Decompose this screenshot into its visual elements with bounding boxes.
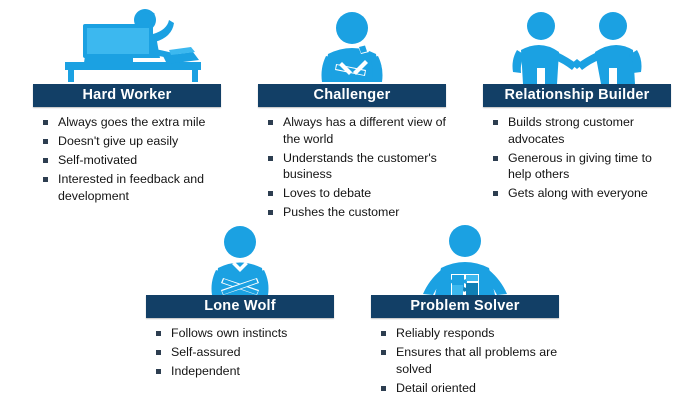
person-thinking-arms-crossed-icon bbox=[258, 6, 446, 84]
diagram-canvas: Hard Worker Always goes the extra mile D… bbox=[0, 0, 700, 401]
card-problem-solver[interactable]: Problem Solver Reliably responds Ensures… bbox=[371, 222, 559, 399]
list-item: Doesn't give up easily bbox=[43, 133, 221, 150]
list-item: Self-motivated bbox=[43, 152, 221, 169]
card-title-problem-solver: Problem Solver bbox=[371, 295, 559, 318]
card-lone-wolf[interactable]: Lone Wolf Follows own instincts Self-ass… bbox=[146, 222, 334, 382]
two-people-handshake-icon bbox=[483, 6, 671, 84]
card-relationship-builder[interactable]: Relationship Builder Builds strong custo… bbox=[483, 6, 671, 204]
bullet-list-relationship-builder: Builds strong customer advocates Generou… bbox=[483, 114, 671, 202]
bullet-list-challenger: Always has a different view of the world… bbox=[258, 114, 446, 221]
list-item: Always has a different view of the world bbox=[268, 114, 446, 147]
card-title-challenger: Challenger bbox=[258, 84, 446, 107]
bullet-list-hard-worker: Always goes the extra mile Doesn't give … bbox=[33, 114, 221, 204]
person-with-puzzle-pieces-icon bbox=[371, 222, 559, 295]
person-arms-folded-icon bbox=[146, 222, 334, 295]
list-item: Always goes the extra mile bbox=[43, 114, 221, 131]
list-item: Interested in feedback and development bbox=[43, 171, 221, 204]
card-title-lone-wolf: Lone Wolf bbox=[146, 295, 334, 318]
list-item: Follows own instincts bbox=[156, 325, 334, 342]
list-item: Ensures that all problems are solved bbox=[381, 344, 559, 377]
list-item: Independent bbox=[156, 363, 334, 380]
bullet-list-problem-solver: Reliably responds Ensures that all probl… bbox=[371, 325, 559, 396]
card-hard-worker[interactable]: Hard Worker Always goes the extra mile D… bbox=[33, 6, 221, 207]
list-item: Loves to debate bbox=[268, 185, 446, 202]
list-item: Self-assured bbox=[156, 344, 334, 361]
card-title-hard-worker: Hard Worker bbox=[33, 84, 221, 107]
list-item: Pushes the customer bbox=[268, 204, 446, 221]
list-item: Generous in giving time to help others bbox=[493, 150, 671, 183]
list-item: Gets along with everyone bbox=[493, 185, 671, 202]
list-item: Builds strong customer advocates bbox=[493, 114, 671, 147]
person-at-desk-with-headset-icon bbox=[33, 6, 221, 84]
list-item: Understands the customer's business bbox=[268, 150, 446, 183]
bullet-list-lone-wolf: Follows own instincts Self-assured Indep… bbox=[146, 325, 334, 380]
list-item: Reliably responds bbox=[381, 325, 559, 342]
list-item: Detail oriented bbox=[381, 380, 559, 397]
card-title-relationship-builder: Relationship Builder bbox=[483, 84, 671, 107]
card-challenger[interactable]: Challenger Always has a different view o… bbox=[258, 6, 446, 223]
